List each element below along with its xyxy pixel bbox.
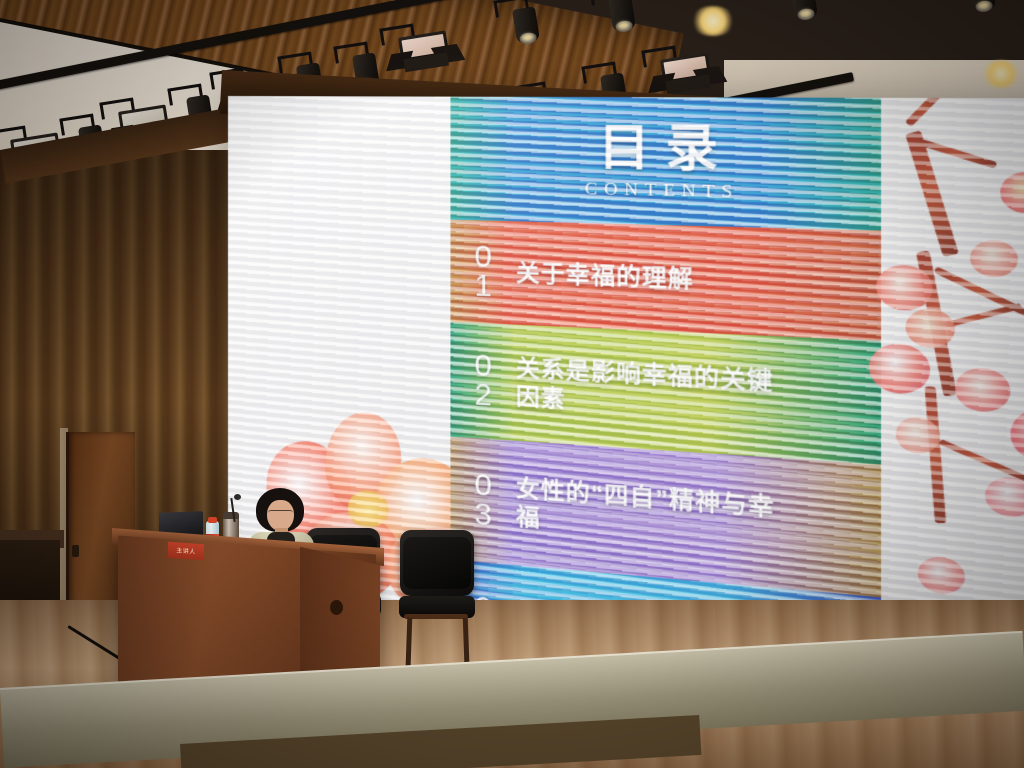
item-number-01: 0 1 (450, 242, 516, 302)
item-number-03: 0 3 (450, 469, 516, 532)
slide-title: 目录 (599, 121, 734, 172)
screenshot-root: 目录 CONTENTS 0 1 关于幸福的理解 (0, 0, 1024, 768)
item-digit: 3 (474, 500, 492, 530)
speaker-glasses (268, 510, 293, 517)
slide-subtitle: CONTENTS (585, 178, 739, 203)
door-handle[interactable] (72, 545, 79, 557)
lamp-glow (980, 60, 1022, 88)
item-label-01: 关于幸福的理解 (516, 259, 881, 301)
desk-cable-grommet (330, 600, 343, 615)
lamp-glow (690, 6, 736, 36)
contents-item-01[interactable]: 0 1 关于幸福的理解 (450, 220, 881, 341)
item-digit: 1 (474, 272, 492, 302)
item-digit: 2 (474, 380, 492, 410)
microphone-head (234, 494, 241, 500)
contents-header: 目录 CONTENTS (450, 97, 881, 231)
item-label-02: 关系是影响幸福的关键因素 (516, 354, 788, 427)
item-label-03: 女性的“四自”精神与幸福 (516, 475, 795, 554)
water-bottle-cap (208, 517, 217, 523)
item-number-02: 0 2 (450, 350, 516, 411)
contents-header-band: 目录 CONTENTS (450, 97, 881, 231)
thermos-cap (223, 512, 239, 519)
